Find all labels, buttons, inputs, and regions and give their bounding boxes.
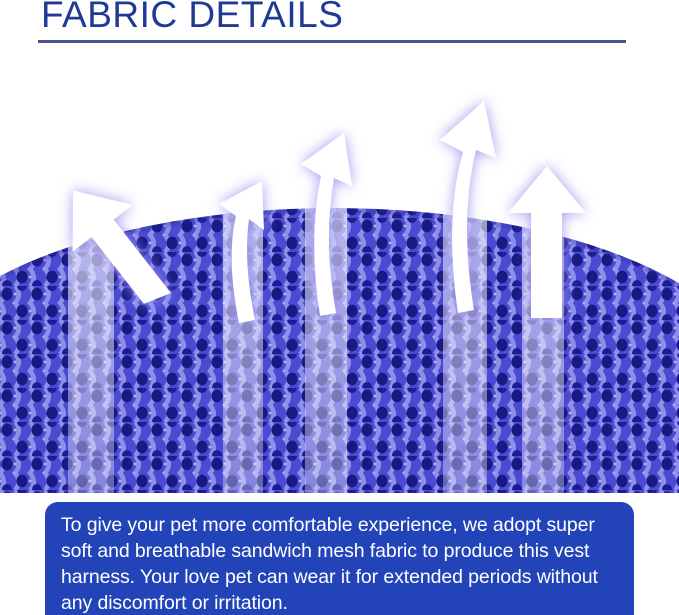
description-callout: To give your pet more comfortable experi… — [45, 502, 634, 615]
header: FABRIC DETAILS — [0, 0, 679, 48]
fabric-illustration — [0, 48, 679, 493]
description-text: To give your pet more comfortable experi… — [61, 512, 620, 615]
title-divider — [38, 40, 626, 43]
fabric-details-infographic: FABRIC DETAILS — [0, 0, 679, 615]
fabric-stage-graphic — [0, 48, 679, 493]
page-title: FABRIC DETAILS — [41, 0, 343, 39]
